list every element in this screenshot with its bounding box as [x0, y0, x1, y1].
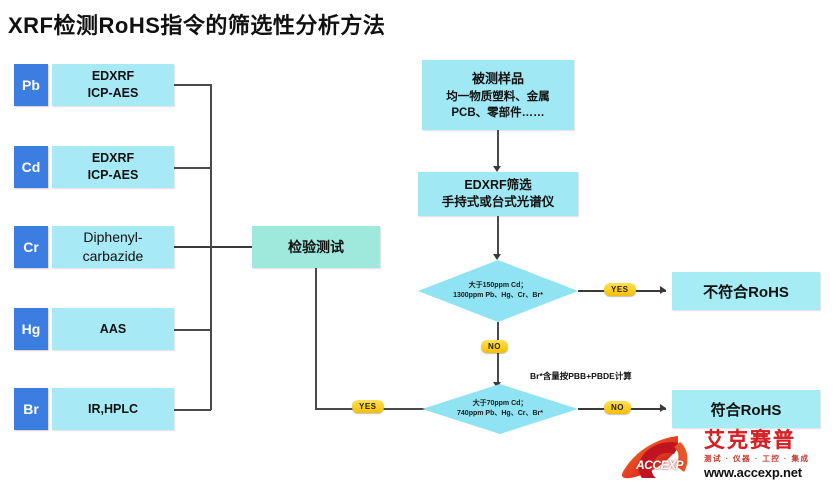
method-box-hg: AAS: [52, 308, 174, 350]
test-box-label: 检验测试: [288, 237, 344, 257]
diamond-shape-icon: [422, 384, 578, 434]
connector-br: [174, 409, 211, 411]
connector-cd: [174, 167, 211, 169]
element-tag-cr: Cr: [14, 226, 48, 268]
result-pass-box: 符合RoHS: [672, 390, 820, 428]
method-line-2: carbazide: [83, 247, 144, 266]
method-box-cr: Diphenyl- carbazide: [52, 226, 174, 268]
connector-left-bus: [210, 84, 212, 410]
arrow-decision1-to-fail: [660, 286, 666, 294]
page-title: XRF检测RoHS指令的筛选性分析方法: [8, 8, 385, 40]
element-tag-cd: Cd: [14, 146, 48, 188]
element-tag-label: Cr: [23, 239, 39, 255]
method-box-cd: EDXRF ICP-AES: [52, 146, 174, 188]
sample-box: 被测样品 均一物质塑料、金属 PCB、零部件……: [422, 60, 574, 130]
element-tag-label: Hg: [22, 321, 41, 337]
watermark-tagline: 测试 · 仪器 · 工控 · 集成: [704, 453, 810, 464]
result-fail-box: 不符合RoHS: [672, 272, 820, 310]
connector-cr: [174, 246, 252, 248]
sample-box-title: 被测样品: [472, 68, 524, 87]
label-yes-left: YES: [352, 400, 384, 413]
method-line-1: EDXRF: [92, 150, 134, 167]
watermark-brand: 艾克赛普: [704, 430, 810, 451]
method-line-1: Diphenyl-: [83, 228, 142, 247]
connector-sample-to-screening: [497, 130, 499, 168]
element-tag-pb: Pb: [14, 64, 48, 106]
connector-pb: [174, 84, 211, 86]
connector-test-down: [315, 268, 317, 410]
note-br-content: Br*含量按PBB+PBDE计算: [530, 370, 632, 382]
connector-hg: [174, 329, 211, 331]
element-tag-label: Br: [23, 401, 39, 417]
screening-box: EDXRF筛选 手持式或台式光谱仪: [418, 172, 578, 216]
sample-box-sub-line2: PCB、零部件……: [451, 106, 544, 122]
label-no-bottom: NO: [604, 401, 631, 414]
connector-screening-to-decision1: [497, 216, 499, 256]
label-yes-top: YES: [604, 283, 636, 296]
method-line-1: IR,HPLC: [88, 401, 138, 418]
arrow-decision2-to-pass: [660, 404, 666, 412]
sample-box-sub-line1: 均一物质塑料、金属: [446, 90, 550, 106]
diamond-shape-icon: [418, 260, 578, 322]
test-box: 检验测试: [252, 226, 380, 268]
method-box-pb: EDXRF ICP-AES: [52, 64, 174, 106]
method-line-1: EDXRF: [92, 68, 134, 85]
watermark-url: www.accexp.net: [704, 465, 810, 480]
decision-1: 大于150ppm Cd； 1300ppm Pb、Hg、Cr、Br*: [418, 260, 578, 322]
method-line-2: ICP-AES: [88, 167, 139, 184]
screening-line-2: 手持式或台式光谱仪: [442, 194, 555, 212]
accexp-logo-icon: [618, 434, 710, 480]
decision-2: 大于70ppm Cd； 740ppm Pb、Hg、Cr、Br*: [422, 384, 578, 434]
accexp-logo-text: ACCEXP: [636, 458, 683, 472]
method-line-1: AAS: [100, 321, 126, 338]
element-tag-label: Pb: [22, 77, 40, 93]
element-tag-br: Br: [14, 388, 48, 430]
flowchart-canvas: XRF检测RoHS指令的筛选性分析方法 Pb EDXRF ICP-AES Cd …: [0, 0, 836, 483]
method-line-2: ICP-AES: [88, 85, 139, 102]
method-box-br: IR,HPLC: [52, 388, 174, 430]
result-fail-label: 不符合RoHS: [703, 281, 789, 302]
label-no-middle: NO: [481, 340, 508, 353]
element-tag-hg: Hg: [14, 308, 48, 350]
screening-line-1: EDXRF筛选: [464, 177, 531, 195]
element-tag-label: Cd: [22, 159, 41, 175]
connector-decision1-no: [497, 322, 499, 384]
result-pass-label: 符合RoHS: [711, 399, 782, 420]
watermark-text: 艾克赛普 测试 · 仪器 · 工控 · 集成 www.accexp.net: [704, 430, 810, 480]
watermark: ACCEXP 艾克赛普 测试 · 仪器 · 工控 · 集成 www.accexp…: [618, 428, 833, 483]
